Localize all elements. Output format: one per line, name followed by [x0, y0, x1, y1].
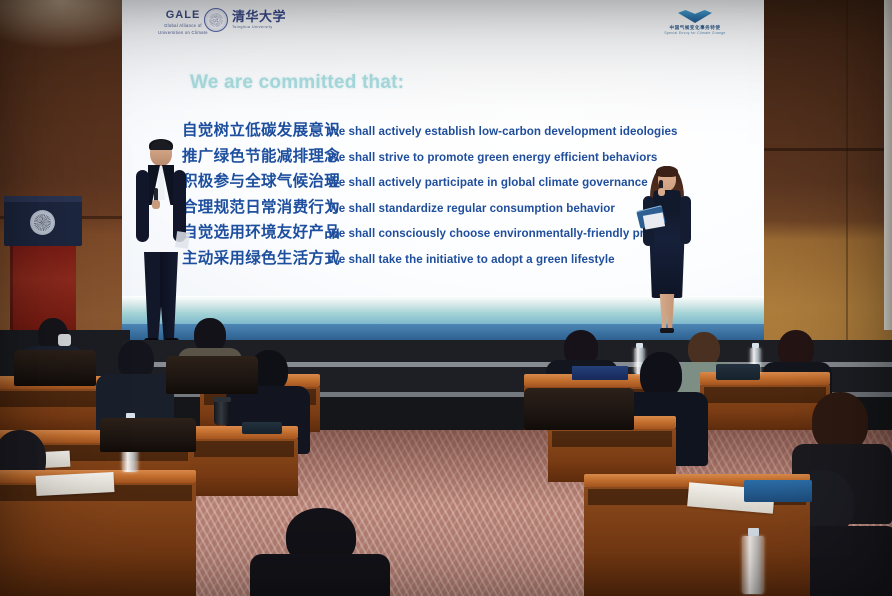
- audience-body: [250, 554, 390, 596]
- lectern-front-panel: [4, 196, 82, 246]
- bottle-cap: [748, 528, 759, 536]
- presenter-shoe: [660, 328, 674, 333]
- audience-desk: [190, 426, 298, 496]
- coffee-cup: [214, 400, 230, 425]
- water-bottle: [742, 536, 764, 594]
- commitment-chinese: 自觉树立低碳发展意识: [182, 118, 328, 140]
- commitment-chinese: 自觉选用环境友好产品: [182, 220, 328, 242]
- presenter-arm-left: [136, 170, 149, 242]
- audience-chair: [524, 388, 634, 430]
- slide-title: We are committed that:: [190, 72, 404, 94]
- commitment-english: We shall strive to promote green energy …: [328, 151, 657, 164]
- presenter-hand: [658, 188, 665, 196]
- male-presenter: [136, 140, 186, 348]
- room-right-edge: [884, 0, 892, 330]
- commitment-english: We shall actively participate in global …: [328, 176, 648, 189]
- presenter-legs: [144, 252, 178, 340]
- conference-photo: GALE Global Alliance of Universities on …: [0, 0, 892, 596]
- right-wall-seam: [764, 148, 892, 151]
- commitment-chinese: 积极参与全球气候治理: [182, 169, 328, 191]
- desk-shadow: [0, 391, 110, 407]
- tablet-device: [242, 422, 282, 434]
- presenter-paper: [175, 231, 190, 249]
- tablet-device: [716, 364, 760, 380]
- desk-papers: [36, 472, 115, 496]
- audience-chair: [100, 418, 196, 452]
- tsinghua-wordmark-block: 清华大学 Tsinghua University: [232, 11, 286, 30]
- commitment-english: We shall take the initiative to adopt a …: [328, 253, 615, 266]
- audience-chair: [14, 350, 96, 386]
- bottle-cap: [636, 343, 643, 348]
- commitment-row: 自觉树立低碳发展意识 We shall actively establish l…: [182, 118, 742, 144]
- audience-head: [194, 318, 226, 352]
- slide-logo-row: GALE Global Alliance of Universities on …: [122, 0, 764, 52]
- female-presenter: [642, 164, 692, 336]
- presenter-hand: [152, 200, 160, 209]
- audience-member: [250, 508, 390, 596]
- commitment-chinese: 主动采用绿色生活方式: [182, 246, 328, 268]
- presenter-legs: [658, 294, 676, 330]
- desk-shadow: [552, 431, 672, 447]
- presenter-fringe: [656, 166, 678, 177]
- audience-chair: [166, 356, 258, 394]
- audience-head: [812, 392, 868, 452]
- commitment-chinese: 推广绿色节能减排理念: [182, 144, 328, 166]
- presenter-head: [150, 140, 172, 166]
- commitment-english: We shall consciously choose environmenta…: [328, 227, 651, 240]
- presenter-arm-right: [680, 196, 691, 244]
- lectern-emblem-icon: [30, 210, 55, 235]
- tsinghua-university-logo: 清华大学 Tsinghua University: [204, 8, 290, 32]
- desk-shadow: [194, 441, 294, 457]
- partner-logo-icon: [678, 10, 712, 23]
- commitment-english: We shall actively establish low-carbon d…: [328, 125, 677, 138]
- cup-lid: [213, 397, 231, 402]
- tablet-device: [744, 480, 812, 502]
- commitment-chinese: 合理规范日常消费行为: [182, 195, 328, 217]
- commitment-english: We shall standardize regular consumption…: [328, 202, 615, 215]
- partner-organization-logo: 中国气候变化事务特使 Special Envoy for Climate Cha…: [652, 10, 738, 36]
- bottle-cap: [752, 343, 759, 348]
- tsinghua-seal-icon: [204, 8, 228, 32]
- face-mask: [58, 334, 71, 346]
